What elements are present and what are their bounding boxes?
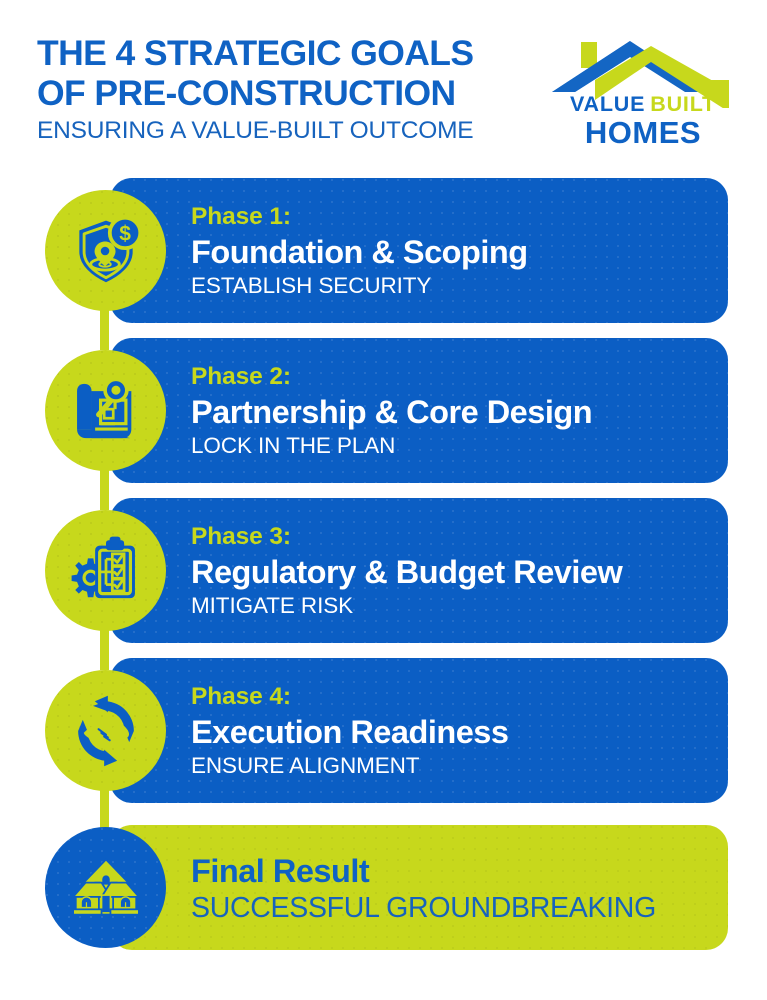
phase-title-4: Execution Readiness bbox=[191, 712, 508, 752]
logo-word-built: BUILT bbox=[650, 92, 716, 116]
phase-icon-circle-1: $ bbox=[45, 190, 166, 311]
phase-icon-circle-2 bbox=[45, 350, 166, 471]
phase-text-4: Phase 4: Execution Readiness ENSURE ALIG… bbox=[191, 658, 508, 803]
final-result-text: Final Result SUCCESSFUL GROUNDBREAKING bbox=[191, 825, 656, 950]
phase-title-2: Partnership & Core Design bbox=[191, 392, 592, 432]
page-subtitle: ENSURING A VALUE-BUILT OUTCOME bbox=[37, 117, 537, 145]
clipboard-checklist-gear-icon bbox=[68, 533, 144, 609]
phase-text-1: Phase 1: Foundation & Scoping ESTABLISH … bbox=[191, 178, 528, 323]
phase-title-3: Regulatory & Budget Review bbox=[191, 552, 622, 592]
phase-label-1: Phase 1: bbox=[191, 202, 528, 232]
phase-title-1: Foundation & Scoping bbox=[191, 232, 528, 272]
title-line-1: THE 4 STRATEGIC GOALS bbox=[37, 33, 537, 73]
phase-text-2: Phase 2: Partnership & Core Design LOCK … bbox=[191, 338, 592, 483]
logo-word-value: VALUE bbox=[570, 92, 645, 116]
phase-row-2[interactable]: Phase 2: Partnership & Core Design LOCK … bbox=[0, 338, 767, 483]
final-result-title: Final Result bbox=[191, 851, 656, 891]
phase-subtitle-2: LOCK IN THE PLAN bbox=[191, 432, 592, 460]
house-icon bbox=[66, 852, 146, 924]
svg-text:$: $ bbox=[119, 222, 131, 245]
phase-row-4[interactable]: Phase 4: Execution Readiness ENSURE ALIG… bbox=[0, 658, 767, 803]
final-result-icon-circle bbox=[45, 827, 166, 948]
handshake-cycle-arrows-icon bbox=[67, 692, 145, 770]
title-line-2: OF PRE-CONSTRUCTION bbox=[37, 73, 537, 113]
logo-wordmark: VALUEBUILT HOMES bbox=[543, 94, 743, 148]
page-title: THE 4 STRATEGIC GOALS OF PRE-CONSTRUCTIO… bbox=[37, 33, 537, 145]
blueprint-magnifier-icon bbox=[68, 373, 144, 449]
phase-subtitle-1: ESTABLISH SECURITY bbox=[191, 272, 528, 300]
brand-logo: VALUEBUILT HOMES bbox=[533, 28, 748, 153]
phase-label-3: Phase 3: bbox=[191, 522, 622, 552]
logo-row-value-built: VALUEBUILT bbox=[543, 94, 743, 116]
phase-text-3: Phase 3: Regulatory & Budget Review MITI… bbox=[191, 498, 622, 643]
phase-icon-circle-4 bbox=[45, 670, 166, 791]
phase-row-1[interactable]: $ Phase 1: Foundation & Scoping ESTABLIS… bbox=[0, 178, 767, 323]
phase-row-3[interactable]: Phase 3: Regulatory & Budget Review MITI… bbox=[0, 498, 767, 643]
final-result-subtitle: SUCCESSFUL GROUNDBREAKING bbox=[191, 891, 656, 925]
header: THE 4 STRATEGIC GOALS OF PRE-CONSTRUCTIO… bbox=[0, 0, 767, 170]
logo-word-homes: HOMES bbox=[543, 117, 743, 148]
phase-icon-circle-3 bbox=[45, 510, 166, 631]
phase-label-4: Phase 4: bbox=[191, 682, 508, 712]
shield-location-dollar-icon: $ bbox=[66, 211, 146, 291]
phase-subtitle-3: MITIGATE RISK bbox=[191, 592, 622, 620]
phase-label-2: Phase 2: bbox=[191, 362, 592, 392]
phase-subtitle-4: ENSURE ALIGNMENT bbox=[191, 752, 508, 780]
final-result-row[interactable]: Final Result SUCCESSFUL GROUNDBREAKING bbox=[0, 825, 767, 950]
